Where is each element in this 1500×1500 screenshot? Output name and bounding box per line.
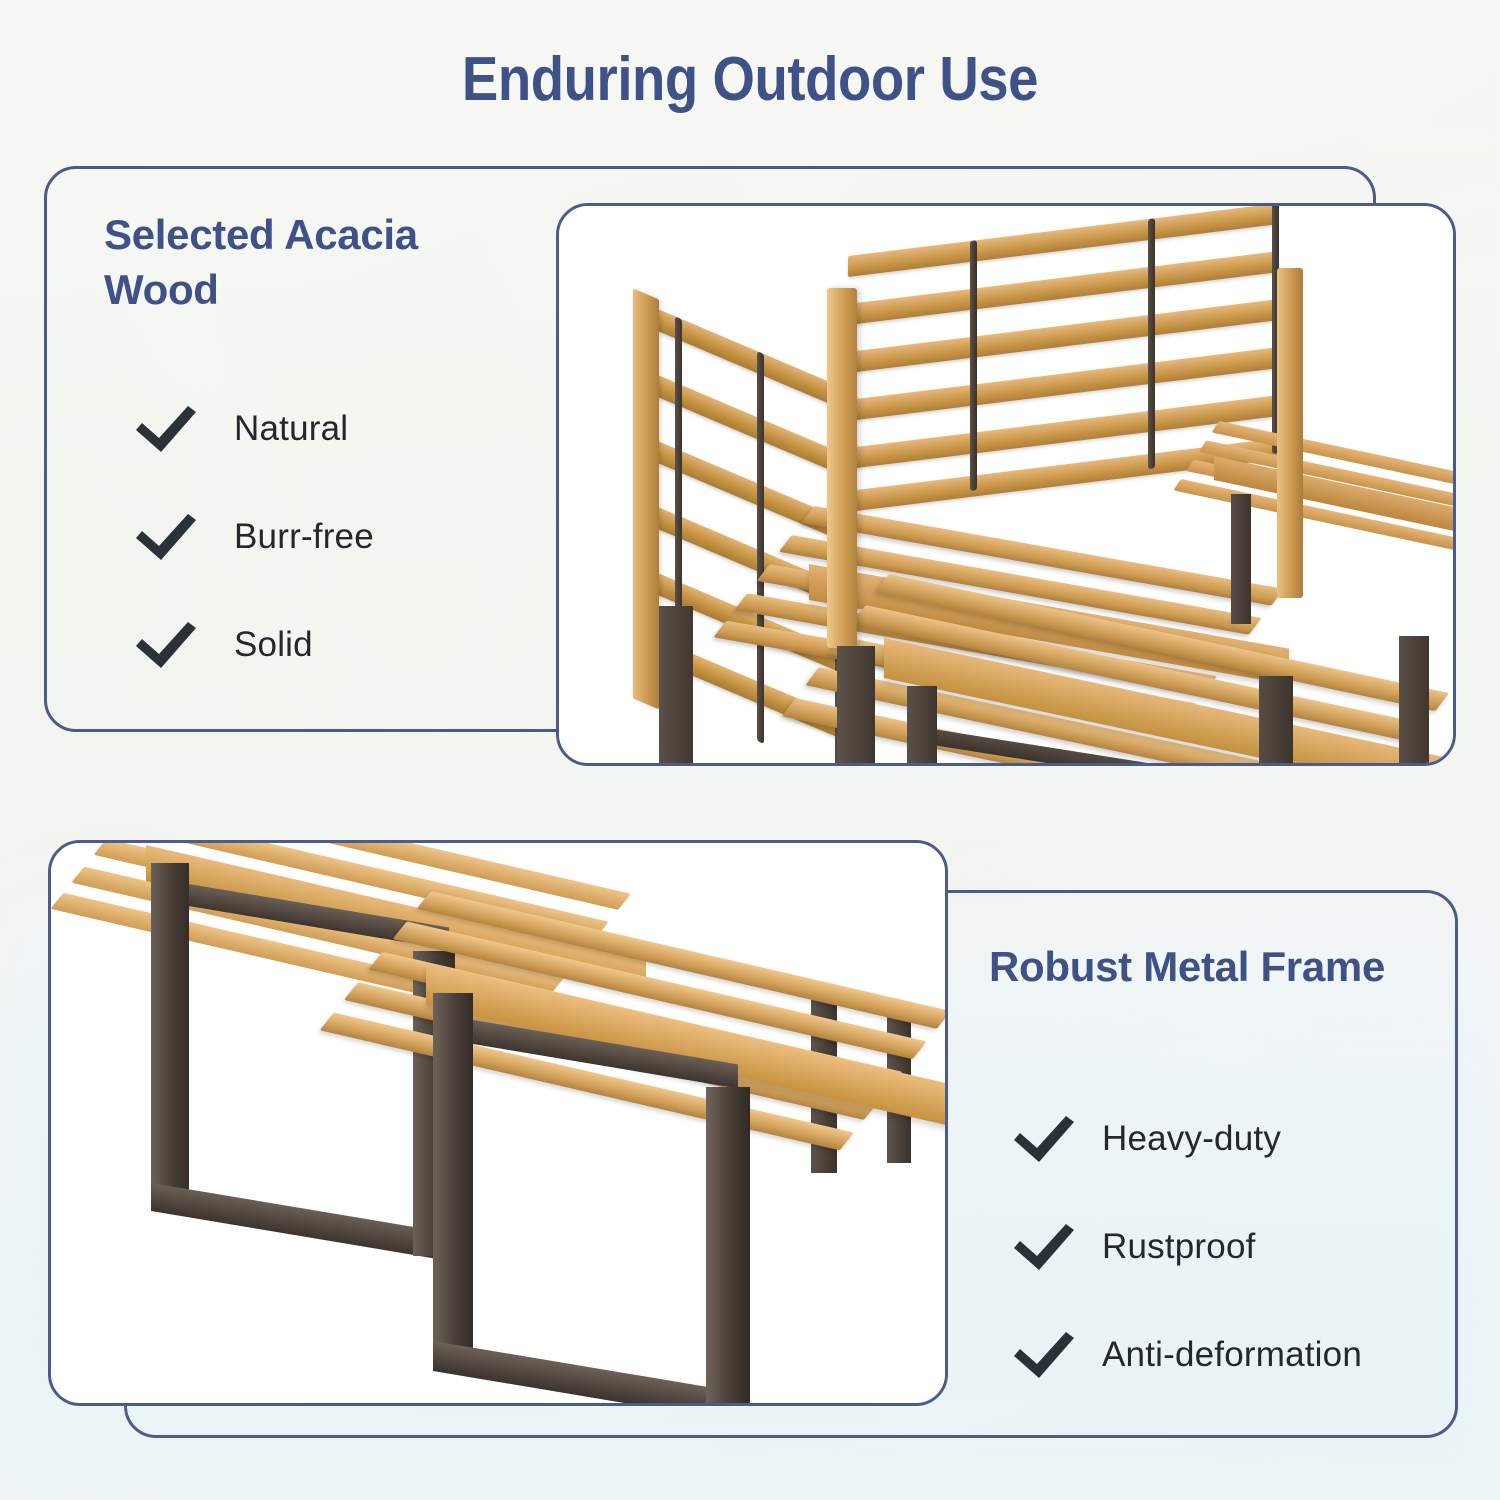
infographic-canvas: Enduring Outdoor Use xyxy=(0,0,1500,1500)
metal-photo-card xyxy=(48,840,948,1406)
sofa-corner-post-right xyxy=(1277,268,1303,598)
wood-panel-heading: Selected Acacia Wood xyxy=(104,208,504,317)
list-item: Natural xyxy=(132,375,374,483)
list-item-label: Rustproof xyxy=(1102,1227,1256,1267)
sofa-leg-right xyxy=(1259,676,1293,766)
list-item-label: Natural xyxy=(234,409,348,449)
metal-panel-heading: Robust Metal Frame xyxy=(989,940,1459,995)
list-item-label: Solid xyxy=(234,625,313,665)
list-item-label: Burr-free xyxy=(234,517,374,557)
list-item-label: Heavy-duty xyxy=(1102,1119,1281,1159)
front-bench-leg-right xyxy=(1399,636,1429,766)
sofa-leg-center xyxy=(837,646,875,766)
bench1-foot-left xyxy=(151,1183,451,1261)
front-bench-leg-left xyxy=(907,686,937,766)
wood-feature-list: Natural Burr-free Solid xyxy=(132,375,374,699)
bench1-leg-left xyxy=(151,863,189,1208)
metal-feature-list: Heavy-duty Rustproof Anti-deformation xyxy=(1010,1085,1362,1409)
side-table-leg-left xyxy=(1231,494,1251,624)
check-icon xyxy=(1010,1329,1080,1381)
list-item: Burr-free xyxy=(132,483,374,591)
check-icon xyxy=(132,511,202,563)
wood-photo-card xyxy=(556,203,1456,766)
sofa-corner-post xyxy=(827,288,857,648)
check-icon xyxy=(132,619,202,671)
list-item: Heavy-duty xyxy=(1010,1085,1362,1193)
bench2-leg-right xyxy=(706,1087,750,1406)
check-icon xyxy=(132,403,202,455)
bench2-foot-left xyxy=(433,1341,743,1406)
list-item-label: Anti-deformation xyxy=(1102,1335,1362,1375)
sofa-leg-left xyxy=(659,606,693,766)
metal-frame-bench-photo xyxy=(51,843,945,1403)
list-item: Solid xyxy=(132,591,374,699)
page-title: Enduring Outdoor Use xyxy=(90,44,1410,115)
list-item: Anti-deformation xyxy=(1010,1301,1362,1409)
bench2-leg-left xyxy=(433,993,473,1368)
check-icon xyxy=(1010,1221,1080,1273)
check-icon xyxy=(1010,1113,1080,1165)
list-item: Rustproof xyxy=(1010,1193,1362,1301)
acacia-wood-sofa-photo xyxy=(559,206,1453,763)
